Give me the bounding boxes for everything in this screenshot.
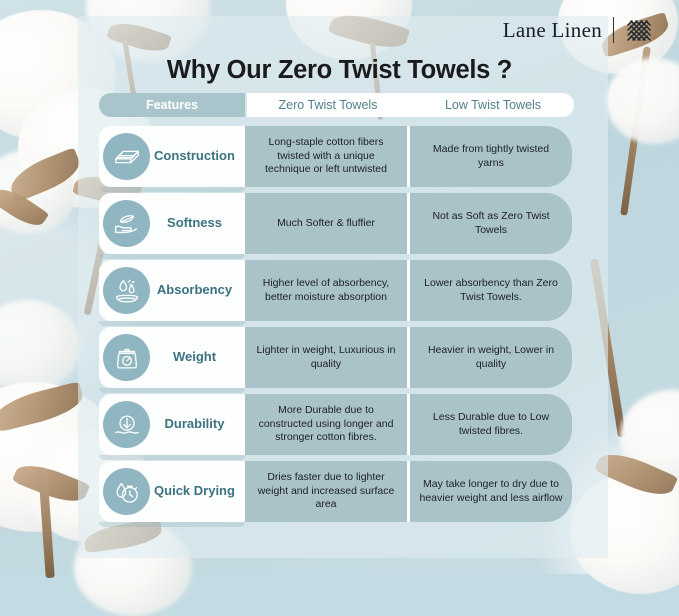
zero-twist-cell: Long-staple cotton fibers twisted with a…: [245, 126, 407, 187]
row-shadow: [99, 388, 245, 393]
water-droplets-icon: [103, 267, 150, 314]
feature-label: Durability: [150, 417, 245, 432]
feature-cell: Quick Drying: [99, 461, 245, 522]
feature-cell: Construction: [99, 126, 245, 187]
feature-label: Construction: [150, 149, 245, 164]
feature-cell: Durability: [99, 394, 245, 455]
zero-twist-cell: Higher level of absorbency, better moist…: [245, 260, 407, 321]
low-twist-cell: Lower absorbency than Zero Twist Towels.: [410, 260, 572, 321]
zero-twist-cell: Lighter in weight, Luxurious in quality: [245, 327, 407, 388]
header-zero-twist: Zero Twist Towels: [247, 93, 409, 117]
row-shadow: [99, 455, 245, 460]
infographic-content: Lane Linen: [0, 0, 679, 574]
down-arrow-circle-icon: [103, 401, 150, 448]
feature-cell: Absorbency: [99, 260, 245, 321]
row-shadow: [99, 254, 245, 259]
low-twist-cell: May take longer to dry due to heavier we…: [410, 461, 572, 522]
header-features: Features: [99, 93, 245, 117]
hand-feather-icon: [103, 200, 150, 247]
zero-twist-cell: Dries faster due to lighter weight and i…: [245, 461, 407, 522]
feature-cell: Softness: [99, 193, 245, 254]
row-shadow: [99, 522, 245, 527]
feature-label: Absorbency: [150, 283, 245, 298]
comparison-table: Features Zero Twist Towels Low Twist Tow…: [99, 93, 584, 528]
feature-label: Weight: [150, 350, 245, 365]
zero-twist-cell: Much Softer & fluffier: [245, 193, 407, 254]
low-twist-cell: Not as Soft as Zero Twist Towels: [410, 193, 572, 254]
low-twist-cell: Heavier in weight, Lower in quality: [410, 327, 572, 388]
low-twist-cell: Made from tightly twisted yarns: [410, 126, 572, 187]
feature-label: Softness: [150, 216, 245, 231]
table-row: Weight Lighter in weight, Luxurious in q…: [99, 327, 584, 388]
table-row: Construction Long-staple cotton fibers t…: [99, 126, 584, 187]
row-shadow: [99, 321, 245, 326]
table-row: Durability More Durable due to construct…: [99, 394, 584, 455]
table-row: Absorbency Higher level of absorbency, b…: [99, 260, 584, 321]
brand-name: Lane Linen: [503, 18, 602, 43]
feature-cell: Weight: [99, 327, 245, 388]
weighing-scale-icon: [103, 334, 150, 381]
feature-label: Quick Drying: [150, 484, 245, 499]
brand-logo: Lane Linen: [503, 16, 653, 44]
folded-towel-icon: [103, 133, 150, 180]
header-low-twist: Low Twist Towels: [412, 93, 574, 117]
zero-twist-cell: More Durable due to constructed using lo…: [245, 394, 407, 455]
page-title: Why Our Zero Twist Towels ?: [0, 56, 679, 85]
table-header-row: Features Zero Twist Towels Low Twist Tow…: [99, 93, 584, 117]
brand-divider: [613, 17, 614, 43]
woven-weave-icon: [625, 16, 653, 44]
row-shadow: [99, 187, 245, 192]
stopwatch-droplet-icon: [103, 468, 150, 515]
low-twist-cell: Less Durable due to Low twisted fibres.: [410, 394, 572, 455]
table-row: Quick Drying Dries faster due to lighter…: [99, 461, 584, 522]
table-row: Softness Much Softer & fluffier Not as S…: [99, 193, 584, 254]
